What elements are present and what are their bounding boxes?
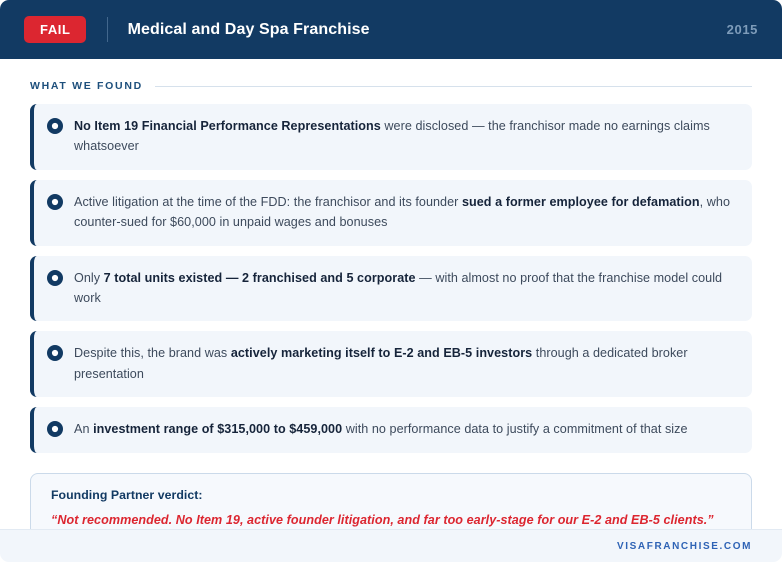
finding-emphasis: No Item 19 Financial Performance Represe…: [74, 119, 381, 133]
finding-plain: Despite this, the brand was: [74, 346, 231, 360]
finding-item: No Item 19 Financial Performance Represe…: [30, 104, 752, 170]
verdict-label: Founding Partner verdict:: [51, 488, 733, 502]
finding-plain: with no performance data to justify a co…: [342, 422, 687, 436]
filled-circle-bullet-icon: [47, 270, 63, 286]
report-year: 2015: [727, 22, 758, 37]
finding-item: Active litigation at the time of the FDD…: [30, 180, 752, 246]
finding-text: An investment range of $315,000 to $459,…: [74, 419, 688, 439]
finding-plain: Only: [74, 271, 104, 285]
finding-plain: Active litigation at the time of the FDD…: [74, 195, 462, 209]
finding-text: Despite this, the brand was actively mar…: [74, 343, 736, 384]
filled-circle-bullet-icon: [47, 118, 63, 134]
brand-label: VISAFRANCHISE.COM: [617, 541, 752, 552]
filled-circle-bullet-icon: [47, 194, 63, 210]
findings-list: No Item 19 Financial Performance Represe…: [30, 104, 752, 453]
section-title: WHAT WE FOUND: [30, 80, 143, 92]
finding-plain: An: [74, 422, 93, 436]
status-badge: FAIL: [24, 16, 86, 43]
section-rule: [155, 86, 752, 87]
finding-emphasis: investment range of $315,000 to $459,000: [93, 422, 342, 436]
finding-item: Only 7 total units existed — 2 franchise…: [30, 256, 752, 322]
report-footer: VISAFRANCHISE.COM: [0, 529, 782, 562]
section-header: WHAT WE FOUND: [30, 80, 752, 92]
finding-text: Only 7 total units existed — 2 franchise…: [74, 268, 736, 309]
report-card: FAIL Medical and Day Spa Franchise 2015 …: [0, 0, 782, 562]
finding-emphasis: 7 total units existed — 2 franchised and…: [104, 271, 416, 285]
finding-text: No Item 19 Financial Performance Represe…: [74, 116, 736, 157]
verdict-quote: “Not recommended. No Item 19, active fou…: [51, 513, 733, 527]
report-body: WHAT WE FOUND No Item 19 Financial Perfo…: [0, 59, 782, 544]
header-divider: [107, 17, 108, 42]
finding-item: Despite this, the brand was actively mar…: [30, 331, 752, 397]
finding-emphasis: actively marketing itself to E-2 and EB-…: [231, 346, 532, 360]
finding-item: An investment range of $315,000 to $459,…: [30, 407, 752, 452]
finding-emphasis: sued a former employee for defamation: [462, 195, 700, 209]
report-header: FAIL Medical and Day Spa Franchise 2015: [0, 0, 782, 59]
filled-circle-bullet-icon: [47, 345, 63, 361]
filled-circle-bullet-icon: [47, 421, 63, 437]
page-title: Medical and Day Spa Franchise: [128, 21, 370, 39]
finding-text: Active litigation at the time of the FDD…: [74, 192, 736, 233]
